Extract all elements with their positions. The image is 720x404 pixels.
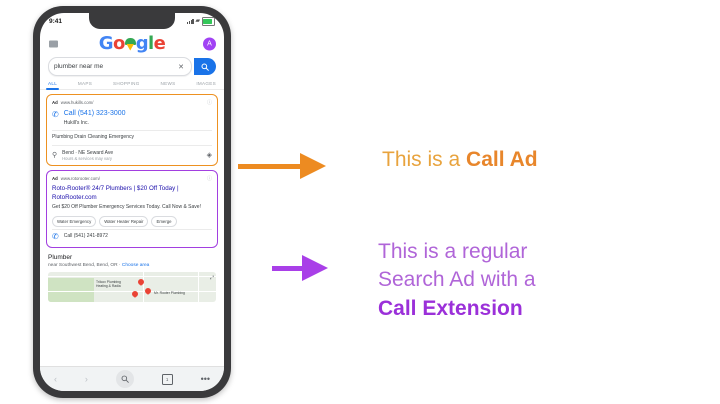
- phone-icon: ✆: [52, 233, 59, 241]
- tab-maps[interactable]: MAPS: [78, 81, 92, 89]
- call-extension-annotation-label: This is a regular Search Ad with a Call …: [378, 238, 536, 323]
- phone-icon: ✆: [52, 111, 59, 119]
- divider: [52, 130, 212, 131]
- google-logo: Gogle: [99, 35, 165, 53]
- divider: [52, 229, 212, 230]
- search-results: Ad www.hukills.com/ ⓘ ✆ Call (541) 323-3…: [40, 90, 224, 302]
- more-button[interactable]: •••: [201, 375, 210, 384]
- arrow-shaft: [272, 266, 302, 271]
- search-tabs: ALL MAPS SHOPPING NEWS IMAGES: [40, 76, 224, 90]
- ad-badge: Ad: [52, 176, 58, 181]
- ad-url[interactable]: www.rotorooter.com/: [61, 176, 204, 181]
- search-button[interactable]: [116, 370, 134, 388]
- sitelink-chips: Water Emergency Water Heater Repair Emer…: [52, 216, 212, 227]
- info-icon[interactable]: ⓘ: [207, 175, 212, 182]
- address-subtext: Hours & services may vary: [62, 156, 113, 161]
- wifi-icon: ▰: [196, 19, 200, 25]
- arrow-head: [300, 153, 326, 179]
- avatar[interactable]: A: [203, 37, 216, 50]
- map-label-mr-rooter: Mr. Rooter Plumbing: [154, 291, 185, 295]
- search-row: plumber near me ✕: [40, 57, 224, 76]
- search-query-text: plumber near me: [54, 63, 176, 70]
- search-ad-card[interactable]: Ad www.rotorooter.com/ ⓘ Roto-Rooter® 24…: [46, 170, 218, 248]
- close-icon[interactable]: ✕: [176, 63, 186, 71]
- status-time: 9:41: [49, 18, 62, 25]
- call-number[interactable]: Call (541) 323-3000: [64, 110, 126, 119]
- google-doodle-icon: [124, 38, 137, 51]
- google-header: Gogle A: [40, 30, 224, 57]
- divider: [52, 145, 212, 146]
- ad-url[interactable]: www.hukills.com/: [61, 100, 204, 105]
- hamburger-menu-icon[interactable]: [49, 40, 58, 47]
- browser-bottom-nav: ‹ › 1 •••: [40, 366, 224, 391]
- call-ad-card[interactable]: Ad www.hukills.com/ ⓘ ✆ Call (541) 323-3…: [46, 94, 218, 166]
- tab-images[interactable]: IMAGES: [196, 81, 216, 89]
- local-pack: Plumber near Southwest Bend, Bend, OR · …: [46, 252, 218, 302]
- status-indicators: ▰: [187, 17, 215, 25]
- ext-label-bold: Call Extension: [378, 297, 523, 320]
- directions-icon[interactable]: ◈: [207, 151, 212, 159]
- chip-water-heater-repair[interactable]: Water Heater Repair: [99, 216, 148, 227]
- tabs-button[interactable]: 1: [162, 374, 173, 385]
- signal-bars-icon: [187, 19, 194, 24]
- ext-label-line1: This is a regular: [378, 238, 536, 266]
- local-pack-location: near Southwest Bend, Bend, OR ·: [48, 263, 122, 268]
- tab-news[interactable]: NEWS: [160, 81, 175, 89]
- chip-emergency[interactable]: Emerge: [151, 216, 176, 227]
- map-marker-1[interactable]: [138, 279, 144, 287]
- ad-badge: Ad: [52, 100, 58, 105]
- arrow-head: [302, 255, 328, 281]
- expand-map-icon[interactable]: ⤢: [210, 275, 214, 281]
- logo-letter-e: e: [154, 33, 166, 54]
- call-ad-label-bold: Call Ad: [466, 148, 538, 171]
- back-button[interactable]: ‹: [54, 375, 57, 384]
- call-extension-row[interactable]: ✆ Call (541) 241-8972: [52, 231, 212, 243]
- chip-water-emergency[interactable]: Water Emergency: [52, 216, 96, 227]
- call-extension-number[interactable]: Call (541) 241-8972: [64, 233, 108, 239]
- local-map[interactable]: Trilcox PlumbingHeating & Radia Mr. Root…: [48, 272, 216, 302]
- search-ad-title[interactable]: Roto-Rooter® 24/7 Plumbers | $20 Off Tod…: [52, 185, 212, 202]
- search-input[interactable]: plumber near me ✕: [48, 57, 192, 76]
- local-pack-title: Plumber: [48, 254, 216, 261]
- business-name: Hukill's Inc.: [64, 120, 126, 126]
- phone-screen: 9:41 ▰ Gogle A plumber near me ✕: [40, 13, 224, 391]
- choose-area-link[interactable]: Choose area: [122, 263, 149, 268]
- tab-all[interactable]: ALL: [48, 81, 57, 89]
- call-ad-arrow: [238, 153, 326, 179]
- phone-mockup: 9:41 ▰ Gogle A plumber near me ✕: [33, 6, 231, 398]
- call-ad-header: Ad www.hukills.com/ ⓘ: [52, 99, 212, 106]
- map-marker-3[interactable]: [132, 291, 138, 299]
- call-ad-annotation-label: This is a Call Ad: [382, 148, 538, 172]
- address-text: Bend · NE Seward Ave: [62, 150, 113, 156]
- logo-letter-g: G: [99, 33, 113, 54]
- battery-icon: [202, 17, 215, 25]
- call-ad-label-prefix: This is a: [382, 148, 466, 171]
- forward-button[interactable]: ›: [85, 375, 88, 384]
- map-marker-2[interactable]: [145, 288, 151, 296]
- ext-label-line2: Search Ad with a: [378, 266, 536, 294]
- tab-shopping[interactable]: SHOPPING: [113, 81, 140, 89]
- call-ad-phone-row[interactable]: ✆ Call (541) 323-3000 Hukill's Inc.: [52, 109, 212, 128]
- logo-letter-g2: g: [136, 33, 148, 54]
- search-ad-description: Get $20 Off Plumber Emergency Services T…: [52, 202, 212, 213]
- location-pin-icon: ⚲: [52, 152, 57, 159]
- arrow-shaft: [238, 164, 300, 169]
- info-icon[interactable]: ⓘ: [207, 99, 212, 106]
- map-label-trilcox: Trilcox PlumbingHeating & Radia: [96, 280, 121, 288]
- search-ad-header: Ad www.rotorooter.com/ ⓘ: [52, 175, 212, 182]
- phone-notch: [89, 13, 175, 29]
- local-pack-subtitle: near Southwest Bend, Bend, OR · Choose a…: [48, 263, 216, 268]
- call-ad-description: Plumbing Drain Cleaning Emergency: [52, 132, 212, 143]
- call-ad-address-row[interactable]: ⚲ Bend · NE Seward Ave Hours & services …: [52, 148, 212, 162]
- call-extension-arrow: [272, 255, 328, 281]
- search-submit-button[interactable]: [194, 58, 216, 75]
